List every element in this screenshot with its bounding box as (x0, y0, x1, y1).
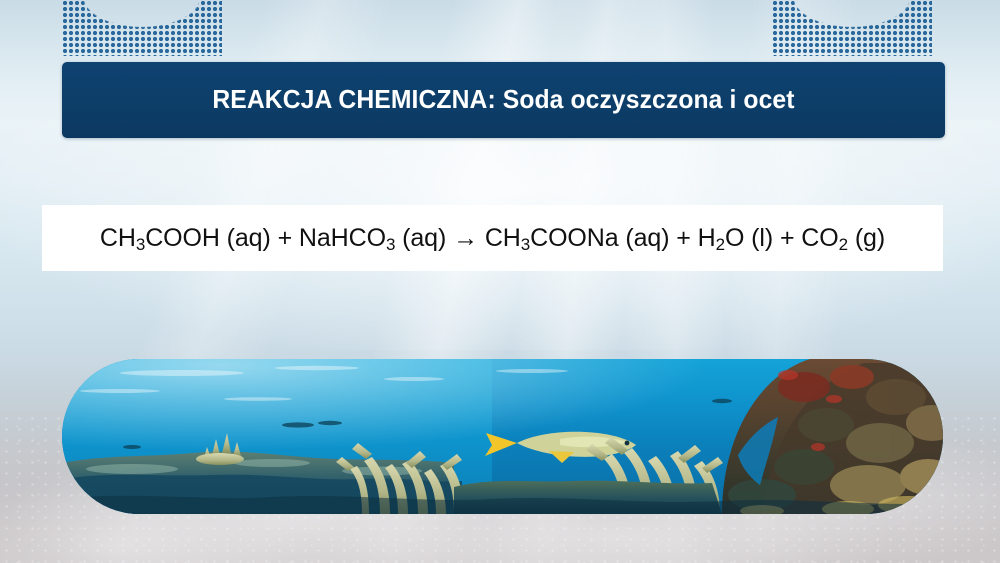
equation-product-3-subscript: 2 (839, 235, 848, 254)
reef-photo-artwork (62, 359, 943, 514)
equation-plus-2: + (676, 224, 691, 252)
equation-reactant-2-subscript: 3 (386, 235, 395, 254)
halftone-dots-right-icon (772, 0, 932, 56)
equation-product-2-rest: O (l) (725, 224, 773, 252)
page-title: REAKCJA CHEMICZNA: Soda oczyszczona i oc… (212, 85, 794, 115)
equation-reactant-2: NaHCO (299, 224, 386, 252)
reef-photo (62, 359, 943, 514)
equation-reactant-1-subscript: 3 (136, 235, 145, 254)
equation-plus-3: + (780, 224, 795, 252)
title-band: REAKCJA CHEMICZNA: Soda oczyszczona i oc… (62, 62, 945, 138)
equation-product-1-subscript: 3 (521, 235, 530, 254)
equation-reactant-1: CH (100, 224, 136, 252)
equation-product-1: CH (485, 224, 521, 252)
equation-product-3-rest: (g) (848, 224, 885, 252)
halftone-dots-left-icon (62, 0, 222, 56)
equation-arrow-icon: → (453, 224, 478, 252)
equation-product-2-subscript: 2 (716, 235, 725, 254)
equation-reactant-2-rest: (aq) (395, 224, 446, 252)
equation-panel: CH3COOH (aq) + NaHCO3 (aq) → CH3COONa (a… (42, 205, 943, 271)
chemical-equation: CH3COOH (aq) + NaHCO3 (aq) → CH3COONa (a… (100, 224, 885, 253)
equation-product-2: H (698, 224, 716, 252)
equation-product-1-rest: COONa (aq) (530, 224, 669, 252)
equation-reactant-1-rest: COOH (aq) (145, 224, 271, 252)
slide-canvas: REAKCJA CHEMICZNA: Soda oczyszczona i oc… (0, 0, 1000, 563)
equation-plus-1: + (278, 224, 293, 252)
equation-product-3: CO (801, 224, 838, 252)
